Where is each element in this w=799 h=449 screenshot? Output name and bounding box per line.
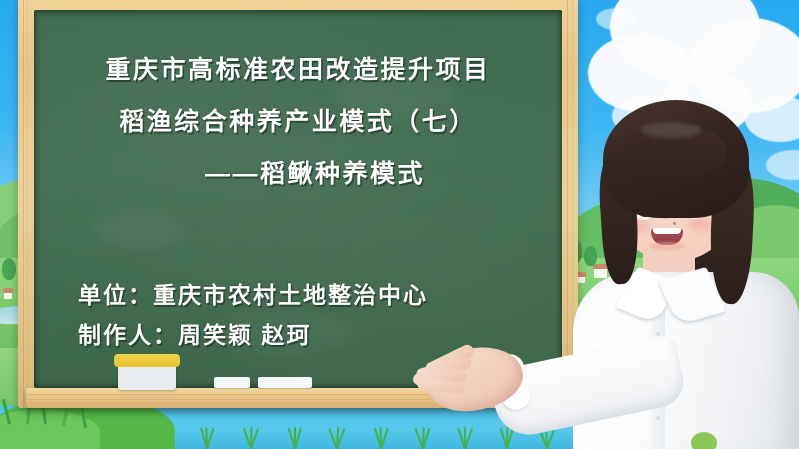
eraser-icon[interactable] — [118, 360, 176, 390]
board-credits-block: 单位：重庆市农村土地整治中心 制作人：周笑颖 赵珂 — [78, 275, 428, 355]
eraser-top-icon — [114, 354, 180, 367]
cloud-icon — [596, 8, 636, 30]
credit-authors: 制作人：周笑颖 赵珂 — [78, 315, 428, 355]
sparkle-icon — [715, 22, 718, 25]
board-title-line-1: 重庆市高标准农田改造提升项目 — [34, 44, 562, 96]
lower-lip — [649, 242, 685, 250]
chalk-icon[interactable] — [258, 377, 312, 388]
house-icon — [4, 292, 12, 299]
hair-highlight — [641, 122, 701, 138]
cheek-blush-right — [689, 218, 713, 231]
tree-icon — [2, 258, 16, 280]
foliage-accent — [691, 432, 717, 449]
shirt-button — [656, 416, 660, 420]
chalk-icon[interactable] — [214, 377, 250, 388]
credit-organization: 单位：重庆市农村土地整治中心 — [78, 275, 428, 315]
sparkle-icon — [760, 60, 762, 62]
mole — [673, 222, 676, 225]
video-frame: 重庆市高标准农田改造提升项目 稻渔综合种养产业模式（七） ——稻鳅种养模式 单位… — [0, 0, 799, 449]
presenter-character — [455, 96, 799, 449]
